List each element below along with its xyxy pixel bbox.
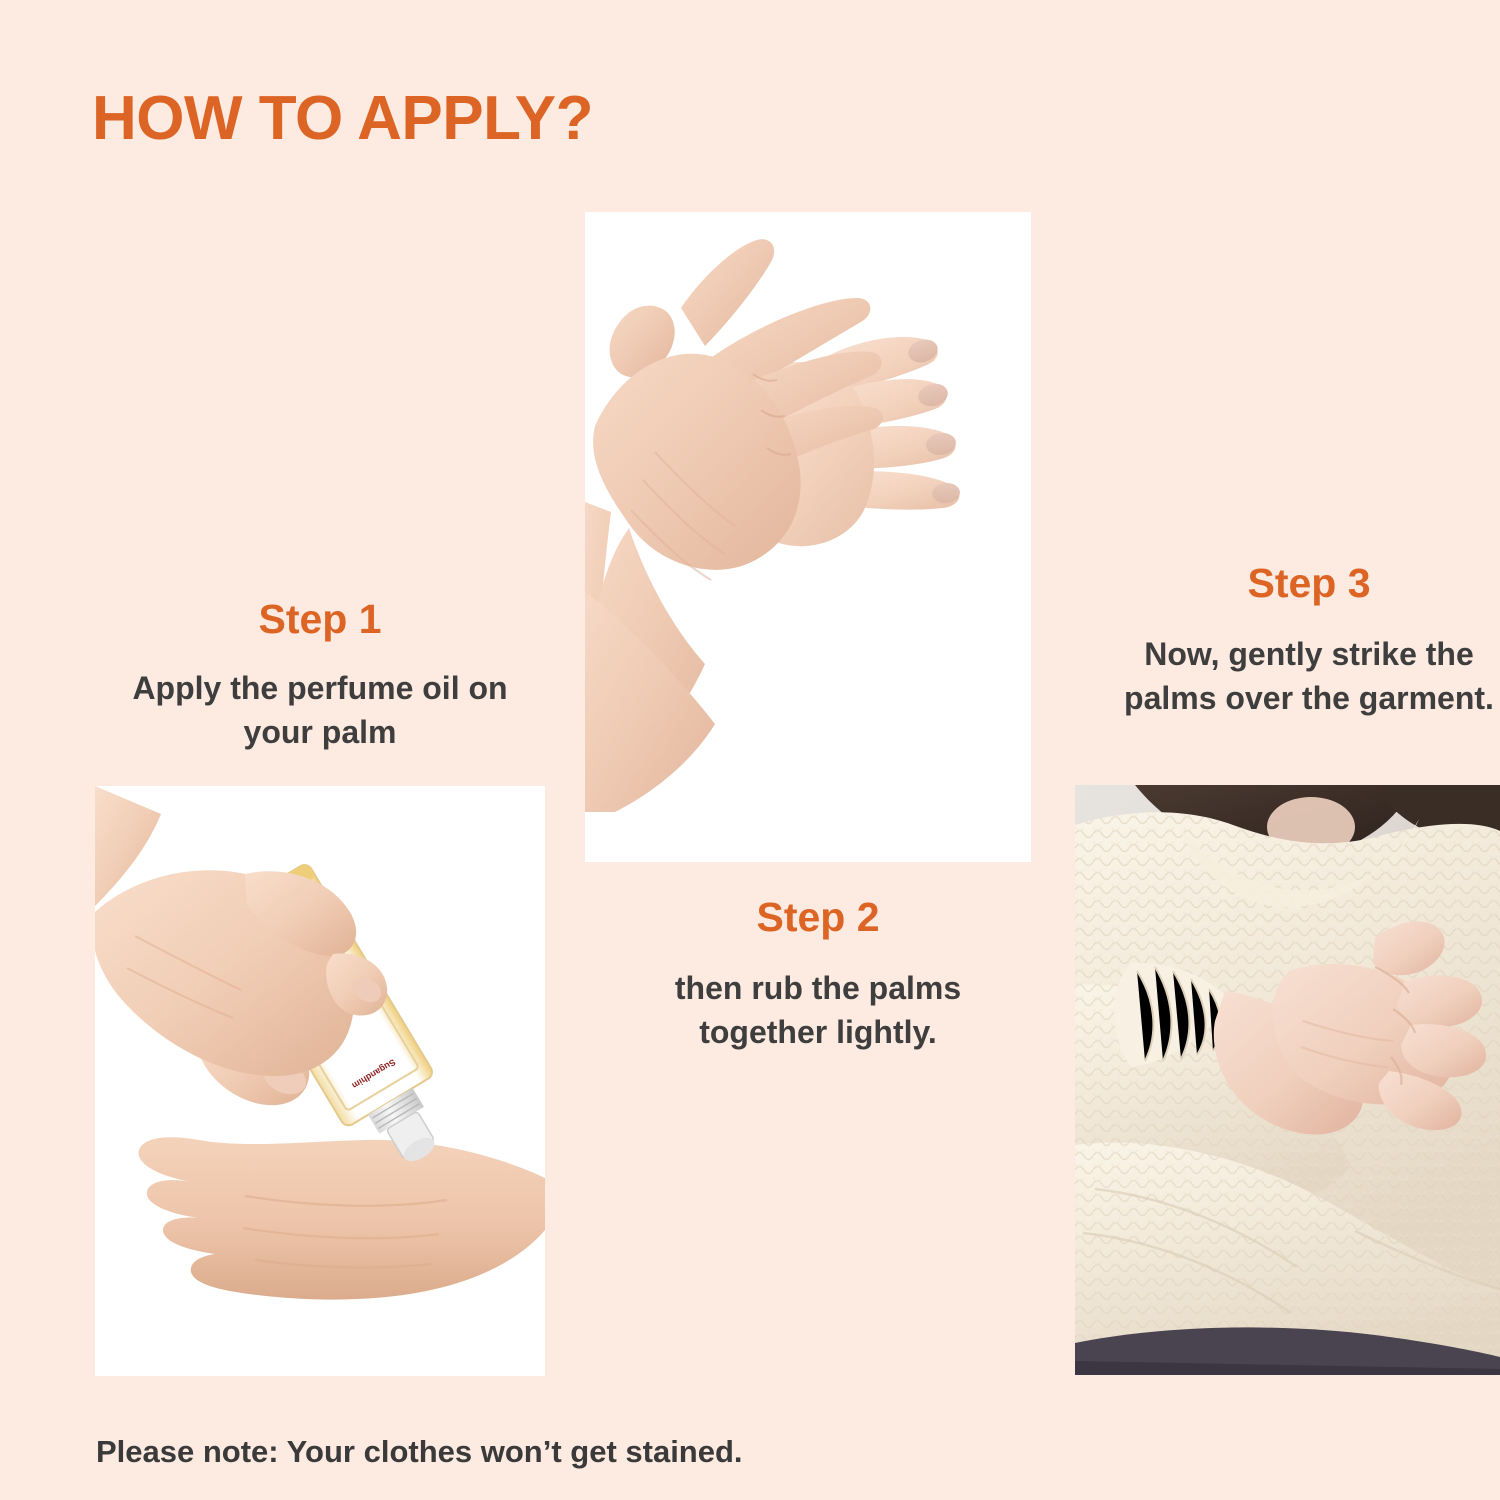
bottle-on-palm-illustration: Sugandhim MUMBAI CHAMPA — Roll On — Non-…: [95, 786, 545, 1376]
step-1-heading: Step 1: [110, 598, 530, 641]
step-3-image: [1075, 785, 1500, 1375]
step-2-image: [585, 212, 1031, 862]
step-2-body: then rub the palms together lightly.: [608, 966, 1028, 1054]
step-1-image: Sugandhim MUMBAI CHAMPA — Roll On — Non-…: [95, 786, 545, 1376]
sweater-strike-illustration: [1075, 785, 1500, 1375]
infographic-canvas: HOW TO APPLY?: [0, 0, 1500, 1500]
step-2-heading: Step 2: [608, 896, 1028, 939]
footer-note: Please note: Your clothes won’t get stai…: [96, 1434, 743, 1470]
step-3-body: Now, gently strike the palms over the ga…: [1118, 632, 1500, 720]
step-3-heading: Step 3: [1118, 562, 1500, 605]
step-1-body: Apply the perfume oil on your palm: [110, 666, 530, 754]
page-title: HOW TO APPLY?: [92, 88, 593, 150]
hands-rubbing-illustration: [585, 212, 1031, 862]
